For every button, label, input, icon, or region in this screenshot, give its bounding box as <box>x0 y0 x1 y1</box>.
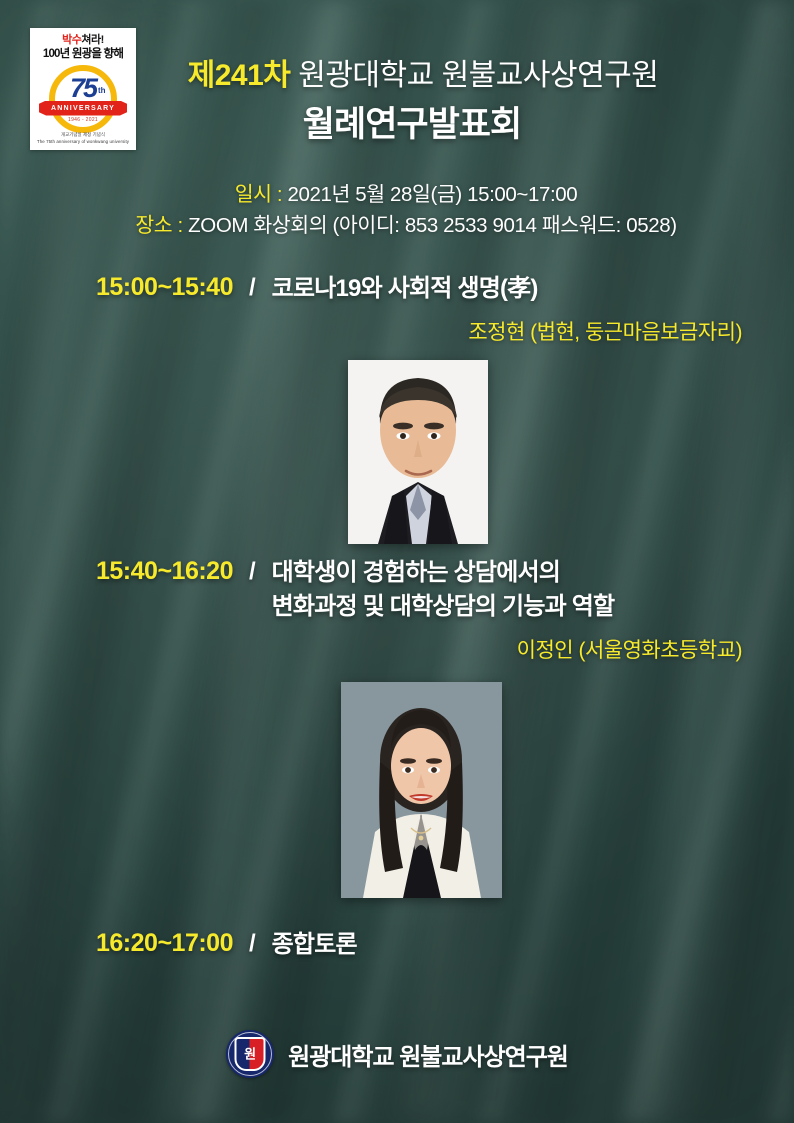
event-date-label: 일시 : <box>235 183 283 206</box>
session-1-time: 15:00~15:40 <box>96 272 233 303</box>
session-2-title: 대학생이 경험하는 상담에서의 변화과정 및 대학상담의 기능과 역할 <box>272 556 615 624</box>
seal-mark: 원 <box>244 1048 256 1061</box>
heading-organization: 원광대학교 원불교사상연구원 <box>298 59 658 92</box>
poster-heading: 제241차 원광대학교 원불교사상연구원 월례연구발표회 <box>0 58 794 147</box>
session-1-title: 코로나19와 사회적 생명(孝) <box>272 272 538 306</box>
session-2-title-line-2: 변화과정 및 대학상담의 기능과 역할 <box>272 590 615 624</box>
session-2-speaker: 이정인 (서울영화초등학교) <box>0 634 794 664</box>
session-2-row: 15:40~16:20 / 대학생이 경험하는 상담에서의 변화과정 및 대학상… <box>0 556 794 624</box>
event-date-row: 일시 : 2021년 5월 28일(금) 15:00~17:00 <box>18 180 794 211</box>
session-1-separator: / <box>249 272 256 303</box>
heading-line-1: 제241차 원광대학교 원불교사상연구원 <box>0 58 794 93</box>
session-3-title: 종합토론 <box>272 928 357 962</box>
session-2-time: 15:40~16:20 <box>96 556 233 587</box>
session-3-row: 16:20~17:00 / 종합토론 <box>0 928 794 962</box>
event-place-label: 장소 : <box>135 214 183 237</box>
page-title: 월례연구발표회 <box>0 96 794 147</box>
speaker-2-photo <box>341 682 502 898</box>
session-3-time: 16:20~17:00 <box>96 928 233 959</box>
event-place-value: ZOOM 화상회의 (아이디: 853 2533 9014 패스워드: 0528… <box>188 214 676 237</box>
poster: 박수쳐라! 100년 원광을 향해 75 th ANNIVERSARY 1946… <box>0 0 794 1123</box>
event-place-row: 장소 : ZOOM 화상회의 (아이디: 853 2533 9014 패스워드:… <box>18 211 794 242</box>
event-info: 일시 : 2021년 5월 28일(금) 15:00~17:00 장소 : ZO… <box>0 180 794 242</box>
session-1: 15:00~15:40 / 코로나19와 사회적 생명(孝) 조정현 (법현, … <box>0 272 794 346</box>
session-1-speaker: 조정현 (법현, 둥근마음보금자리) <box>0 316 794 346</box>
event-date-value: 2021년 5월 28일(금) 15:00~17:00 <box>288 183 578 206</box>
session-2: 15:40~16:20 / 대학생이 경험하는 상담에서의 변화과정 및 대학상… <box>0 556 794 664</box>
speaker-1-photo <box>348 360 488 544</box>
speaker-1-portrait-icon <box>348 360 488 544</box>
session-1-row: 15:00~15:40 / 코로나19와 사회적 생명(孝) <box>0 272 794 306</box>
session-2-separator: / <box>249 556 256 587</box>
university-seal-icon: 원 <box>226 1030 274 1078</box>
anniversary-tagline: 박수쳐라! <box>30 35 136 46</box>
speaker-2-portrait-icon <box>341 682 502 898</box>
footer-organization: 원광대학교 원불교사상연구원 <box>288 1037 568 1072</box>
anniversary-tagline-rest: 쳐라! <box>81 34 103 46</box>
session-3-separator: / <box>249 928 256 959</box>
session-2-title-line-1: 대학생이 경험하는 상담에서의 <box>272 556 615 590</box>
footer: 원 원광대학교 원불교사상연구원 <box>0 1030 794 1078</box>
session-3: 16:20~17:00 / 종합토론 <box>0 928 794 962</box>
anniversary-tagline-highlight: 박수 <box>62 34 81 46</box>
heading-issue: 제241차 <box>188 59 291 92</box>
